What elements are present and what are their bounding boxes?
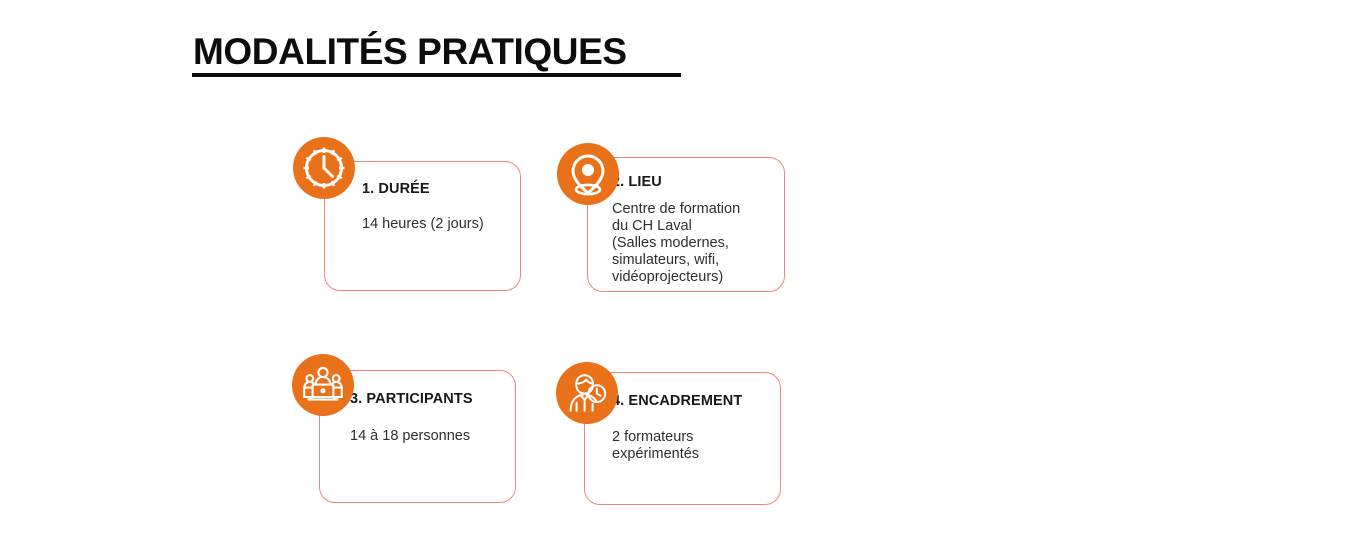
card-heading-duree: 1. DURÉE: [362, 181, 512, 197]
group-meeting-icon: [292, 354, 354, 416]
page-title-underline: [192, 73, 681, 77]
card-body-encadrement: 4. ENCADREMENT 2 formateurs expérimentés: [612, 393, 777, 463]
location-pin-icon: [557, 143, 619, 205]
card-body-lieu: 2. LIEU Centre de formation du CH Laval …: [612, 174, 782, 287]
card-heading-lieu: 2. LIEU: [612, 174, 782, 190]
card-body-participants: 3. PARTICIPANTS 14 à 18 personnes: [350, 391, 515, 445]
card-text-encadrement: 2 formateurs expérimentés: [612, 429, 777, 463]
card-text-lieu: Centre de formation du CH Laval (Salles …: [612, 201, 782, 287]
card-heading-encadrement: 4. ENCADREMENT: [612, 393, 777, 409]
page-title: MODALITÉS PRATIQUES: [193, 31, 627, 73]
card-body-duree: 1. DURÉE 14 heures (2 jours): [362, 181, 512, 233]
card-text-participants: 14 à 18 personnes: [350, 428, 515, 445]
card-heading-participants: 3. PARTICIPANTS: [350, 391, 515, 407]
trainer-clock-icon: [556, 362, 618, 424]
card-text-duree: 14 heures (2 jours): [362, 216, 512, 233]
clock-icon: [293, 137, 355, 199]
